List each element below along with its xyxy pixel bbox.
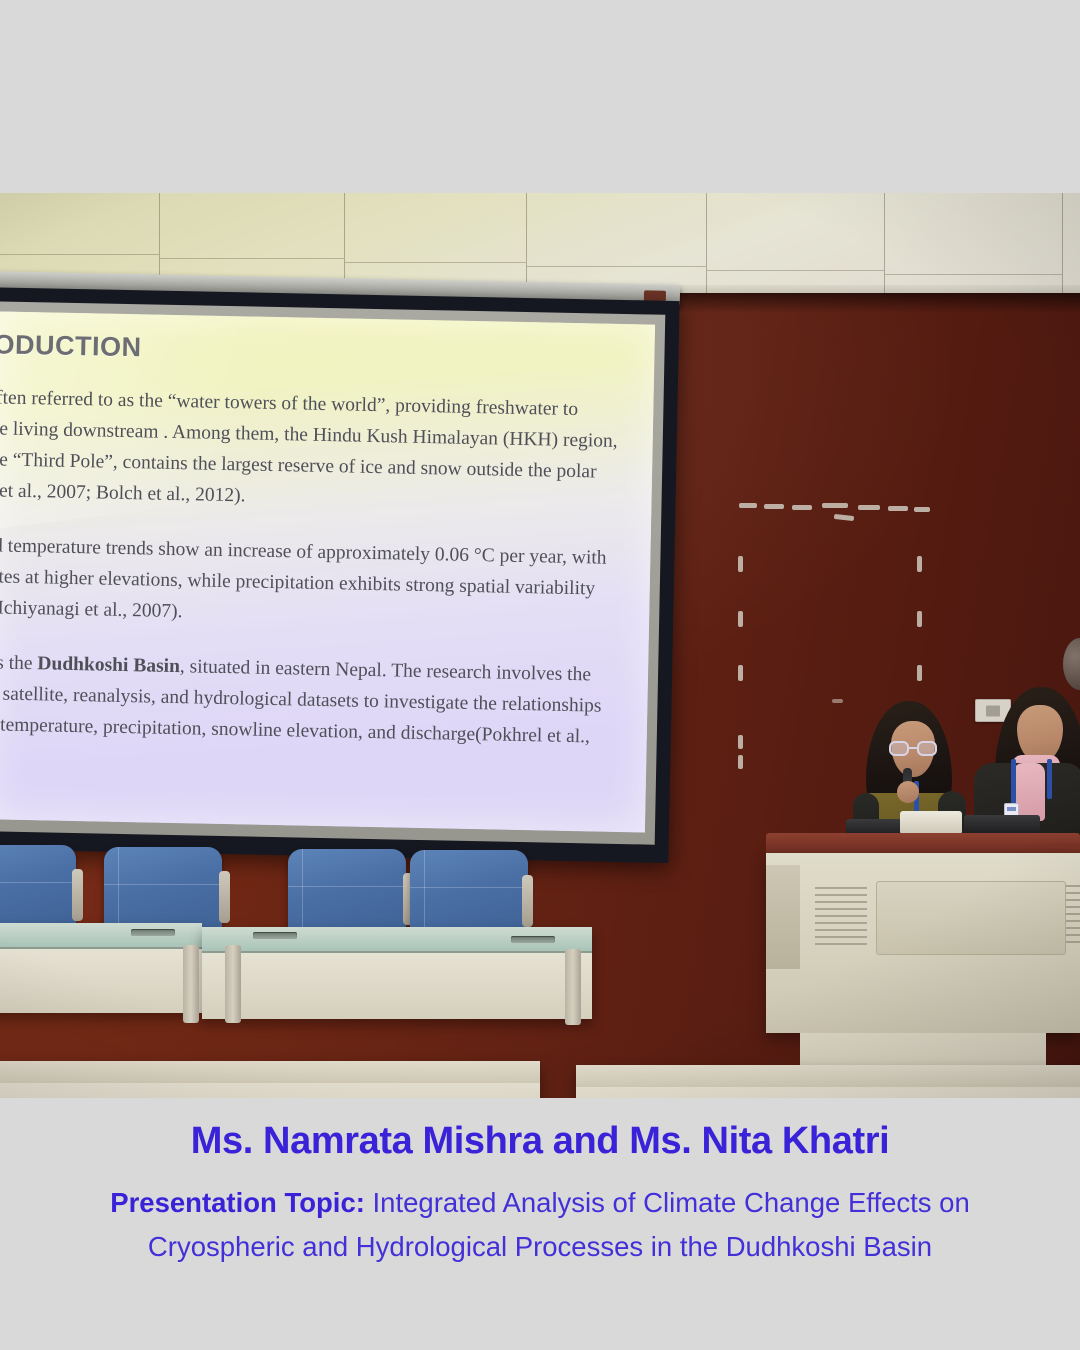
tape-mark — [917, 611, 922, 627]
slide-text: , situated in eastern Nepal. The researc… — [180, 656, 592, 685]
topic-line-1: Presentation Topic: Integrated Analysis … — [0, 1181, 1080, 1225]
podium-vent — [815, 883, 867, 945]
tape-mark — [792, 505, 812, 510]
slide-paragraph: ns are often referred to as the “water t… — [0, 381, 636, 519]
ceiling-tile — [345, 193, 527, 263]
slide-text: examines the — [0, 651, 38, 674]
desk-cable-slot — [131, 929, 175, 936]
chair-armrest — [72, 869, 83, 921]
conference-desk — [0, 923, 202, 1013]
glasses-icon — [889, 741, 937, 756]
topic-label: Presentation Topic: — [110, 1187, 365, 1218]
tape-mark — [914, 507, 930, 512]
tape-mark — [917, 665, 922, 681]
slide-paragraph: observed temperature trends show an incr… — [0, 529, 633, 636]
slide-text-bold: Dudhkoshi Basin — [37, 653, 180, 677]
tape-mark — [738, 611, 743, 627]
ceiling-tile — [885, 193, 1063, 275]
tape-mark — [888, 506, 908, 511]
podium-front-panel — [876, 881, 1066, 955]
desk-leg — [565, 949, 581, 1025]
desk-front-panel — [576, 1087, 1080, 1098]
desk-leg — [183, 945, 199, 1023]
desk-cable-slot — [511, 936, 555, 943]
tape-mark — [738, 735, 743, 749]
presentation-topic: Presentation Topic: Integrated Analysis … — [0, 1163, 1080, 1269]
ceiling-tile — [707, 193, 885, 271]
chair-armrest — [522, 875, 533, 927]
blue-chair — [288, 849, 406, 937]
desk-surface — [576, 1065, 1080, 1087]
tape-mark — [858, 505, 880, 510]
tape-mark — [738, 755, 743, 769]
tape-mark — [832, 699, 843, 703]
presenter-names: Ms. Namrata Mishra and Ms. Nita Khatri — [0, 1098, 1080, 1163]
slide-title: NTRODUCTION — [0, 328, 637, 373]
desk-front-panel — [0, 1083, 540, 1098]
blue-chair — [0, 845, 76, 933]
desk-front-panel — [0, 949, 202, 1013]
desk-leg — [225, 945, 241, 1023]
mic-stand-base — [964, 815, 1040, 833]
projected-slide: NTRODUCTION ns are often referred to as … — [0, 311, 655, 832]
laptop — [900, 811, 962, 833]
conference-desk — [576, 1065, 1080, 1098]
caption-block: Ms. Namrata Mishra and Ms. Nita Khatri P… — [0, 1098, 1080, 1350]
tape-mark — [738, 665, 743, 681]
desk-front-panel — [202, 953, 592, 1019]
tape-mark — [917, 556, 922, 572]
blue-chair — [410, 850, 528, 938]
ceiling-tile — [0, 193, 160, 255]
tape-mark — [764, 504, 784, 509]
desk-surface — [0, 923, 202, 949]
desk-surface — [0, 1061, 540, 1083]
desk-cable-slot — [253, 932, 297, 939]
topic-line-2: Cryospheric and Hydrological Processes i… — [0, 1225, 1080, 1269]
chair-armrest — [219, 871, 230, 923]
tape-mark — [738, 556, 743, 572]
poster-page: NTRODUCTION ns are often referred to as … — [0, 0, 1080, 1350]
conference-desk — [0, 1061, 540, 1098]
podium-side-wing — [766, 865, 800, 969]
presentation-photo: NTRODUCTION ns are often referred to as … — [0, 193, 1080, 1098]
slide-paragraph: examines the Dudhkoshi Basin, situated i… — [0, 646, 630, 753]
hand — [897, 781, 919, 803]
tape-mark — [822, 503, 848, 508]
ceiling-tile — [527, 193, 707, 267]
topic-text-1: Integrated Analysis of Climate Change Ef… — [365, 1187, 970, 1218]
screen-mat: NTRODUCTION ns are often referred to as … — [0, 301, 665, 844]
tape-mark — [739, 503, 757, 508]
projector-screen: NTRODUCTION ns are often referred to as … — [0, 287, 680, 863]
ceiling-tile — [160, 193, 345, 259]
lanyard — [1047, 759, 1052, 799]
blue-chair — [104, 847, 222, 935]
